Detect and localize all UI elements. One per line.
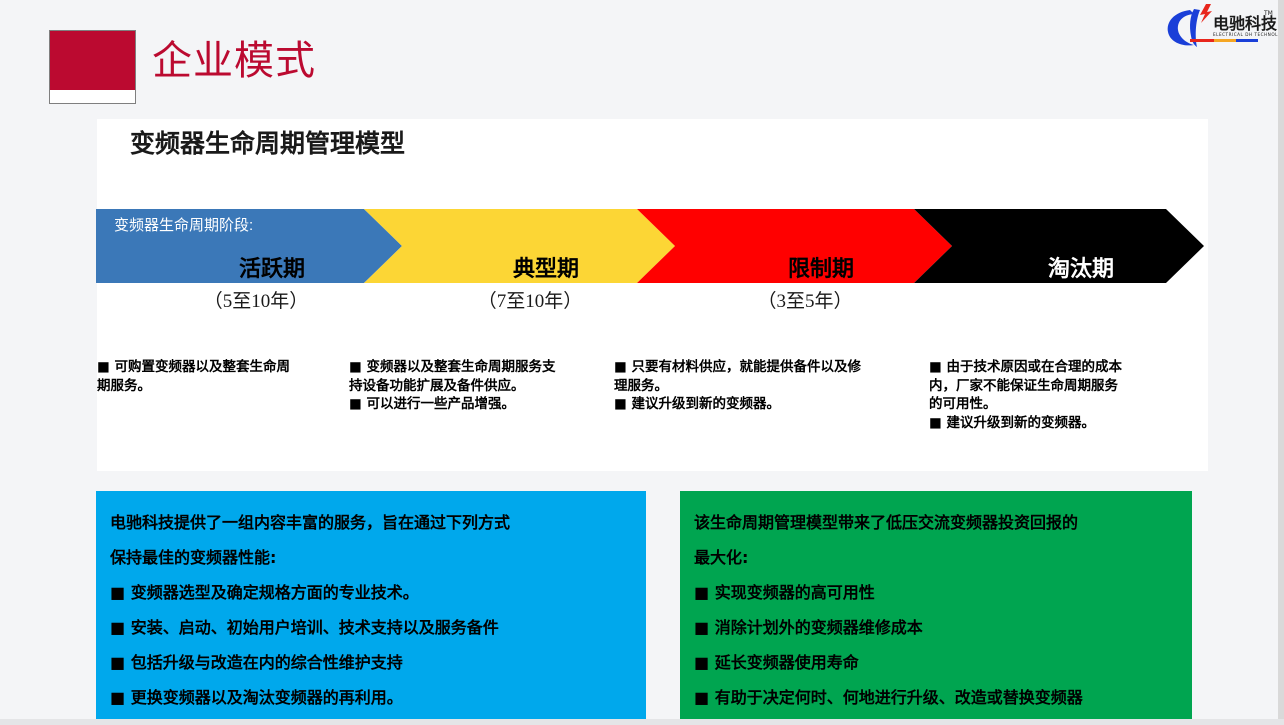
- note-line: ■ 可以进行一些产品增强。: [349, 395, 609, 414]
- dianchi-technology-logo: 电驰科技 TM ELECTRICAL DH TECHNOLOGY: [1160, 2, 1278, 52]
- slide-header: 企业模式 电驰科技 TM ELECTRICAL DH TECHNOLOGY: [0, 0, 1284, 119]
- stage-name-limited: 限制期: [741, 251, 901, 283]
- stage-notes-limited: ■ 只要有材料供应，就能提供备件以及修 理服务。 ■ 建议升级到新的变频器。: [614, 358, 914, 414]
- stage-name-typical: 典型期: [466, 251, 626, 283]
- summary-line: ■ 变频器选型及确定规格方面的专业技术。: [110, 579, 630, 603]
- summary-line: ■ 实现变频器的高可用性: [694, 579, 1176, 603]
- stage-duration-limited: （3至5年）: [645, 286, 965, 313]
- note-line: 的可用性。: [929, 395, 1174, 414]
- page-title: 企业模式: [152, 38, 316, 84]
- benefits-summary-box: 该生命周期管理模型带来了低压交流变频器投资回报的 最大化: ■ 实现变频器的高可…: [680, 491, 1192, 725]
- note-line: 理服务。: [614, 377, 914, 396]
- note-line: 持设备功能扩展及备件供应。: [349, 377, 609, 396]
- title-accent-fill: [50, 31, 135, 90]
- lifecycle-stage-chevron-band: 变频器生命周期阶段: 活跃期 典型期 限制期 淘汰期: [96, 209, 1204, 283]
- summary-line: ■ 延长变频器使用寿命: [694, 649, 1176, 673]
- note-line: ■ 建议升级到新的变频器。: [614, 395, 914, 414]
- stage-notes-active: ■ 可购置变频器以及整套生命周 期服务。: [97, 358, 342, 395]
- stage-notes-typical: ■ 变频器以及整套生命周期服务支 持设备功能扩展及备件供应。 ■ 可以进行一些产…: [349, 358, 609, 414]
- vertical-scrollbar[interactable]: [1278, 0, 1284, 725]
- stage-notes-row: ■ 可购置变频器以及整套生命周 期服务。 ■ 变频器以及整套生命周期服务支 持设…: [97, 358, 1208, 458]
- summary-line: 该生命周期管理模型带来了低压交流变频器投资回报的: [694, 509, 1176, 533]
- stage-name-obsolete: 淘汰期: [1001, 251, 1161, 283]
- stage-duration-typical: （7至10年）: [370, 286, 690, 313]
- stage-name-active: 活跃期: [192, 251, 352, 283]
- note-line: ■ 由于技术原因或在合理的成本: [929, 358, 1174, 377]
- summary-line: ■ 有助于决定何时、何地进行升级、改造或替换变频器: [694, 684, 1176, 708]
- stage-duration-active: （5至10年）: [96, 286, 416, 313]
- stage-notes-obsolete: ■ 由于技术原因或在合理的成本 内，厂家不能保证生命周期服务 的可用性。 ■ 建…: [929, 358, 1174, 432]
- bottom-edge-strip: [0, 719, 1284, 725]
- note-line: ■ 可购置变频器以及整套生命周: [97, 358, 342, 377]
- summary-line: ■ 安装、启动、初始用户培训、技术支持以及服务备件: [110, 614, 630, 638]
- note-line: ■ 建议升级到新的变频器。: [929, 414, 1174, 433]
- panel-title: 变频器生命周期管理模型: [130, 124, 405, 160]
- note-line: ■ 只要有材料供应，就能提供备件以及修: [614, 358, 914, 377]
- summary-line: ■ 更换变频器以及淘汰变频器的再利用。: [110, 684, 630, 708]
- note-line: 内，厂家不能保证生命周期服务: [929, 377, 1174, 396]
- note-line: ■ 变频器以及整套生命周期服务支: [349, 358, 609, 377]
- summary-line: 保持最佳的变频器性能:: [110, 544, 630, 568]
- services-summary-box: 电驰科技提供了一组内容丰富的服务，旨在通过下列方式 保持最佳的变频器性能: ■ …: [96, 491, 646, 725]
- svg-text:ELECTRICAL DH TECHNOLOGY: ELECTRICAL DH TECHNOLOGY: [1213, 32, 1278, 37]
- summary-line: 最大化:: [694, 544, 1176, 568]
- summary-line: ■ 消除计划外的变频器维修成本: [694, 614, 1176, 638]
- note-line: 期服务。: [97, 377, 342, 396]
- summary-line: 电驰科技提供了一组内容丰富的服务，旨在通过下列方式: [110, 509, 630, 533]
- svg-text:TM: TM: [1263, 10, 1273, 17]
- stage-band-caption: 变频器生命周期阶段:: [114, 214, 253, 235]
- summary-line: ■ 包括升级与改造在内的综合性维护支持: [110, 649, 630, 673]
- title-accent-swatch: [49, 30, 136, 104]
